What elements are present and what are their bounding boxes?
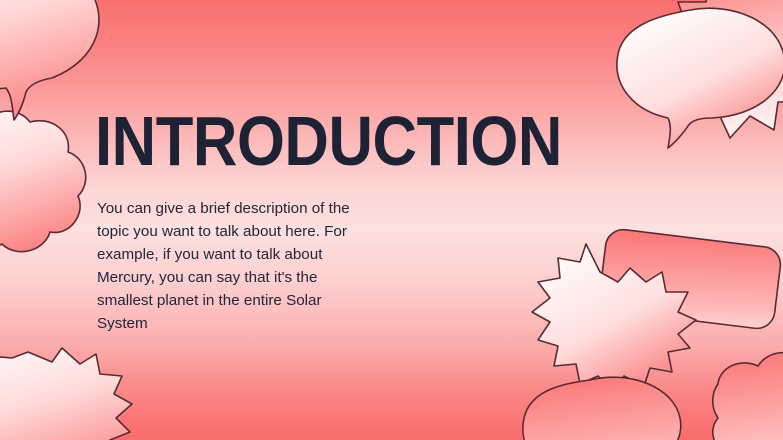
page-title: INTRODUCTION	[95, 108, 359, 175]
speech-bubble-rect-bottom-right	[594, 228, 782, 359]
speech-bubble-cloud-top-left	[0, 111, 86, 251]
speech-bubble-cloud-bottom-right	[713, 353, 783, 440]
slide-canvas: INTRODUCTION You can give a brief descri…	[0, 0, 783, 440]
speech-bubble-burst-bottom-left	[0, 348, 132, 440]
slide-content: INTRODUCTION You can give a brief descri…	[95, 108, 395, 335]
speech-bubble-burst-bottom-right	[532, 244, 696, 390]
slide-body-text: You can give a brief description of the …	[97, 197, 369, 336]
speech-bubble-burst-top-right	[662, 0, 783, 138]
speech-bubble-oval-top-right	[617, 8, 783, 148]
speech-bubble-oval-top-left	[0, 0, 99, 120]
speech-bubble-oval-bottom-right	[523, 377, 681, 440]
